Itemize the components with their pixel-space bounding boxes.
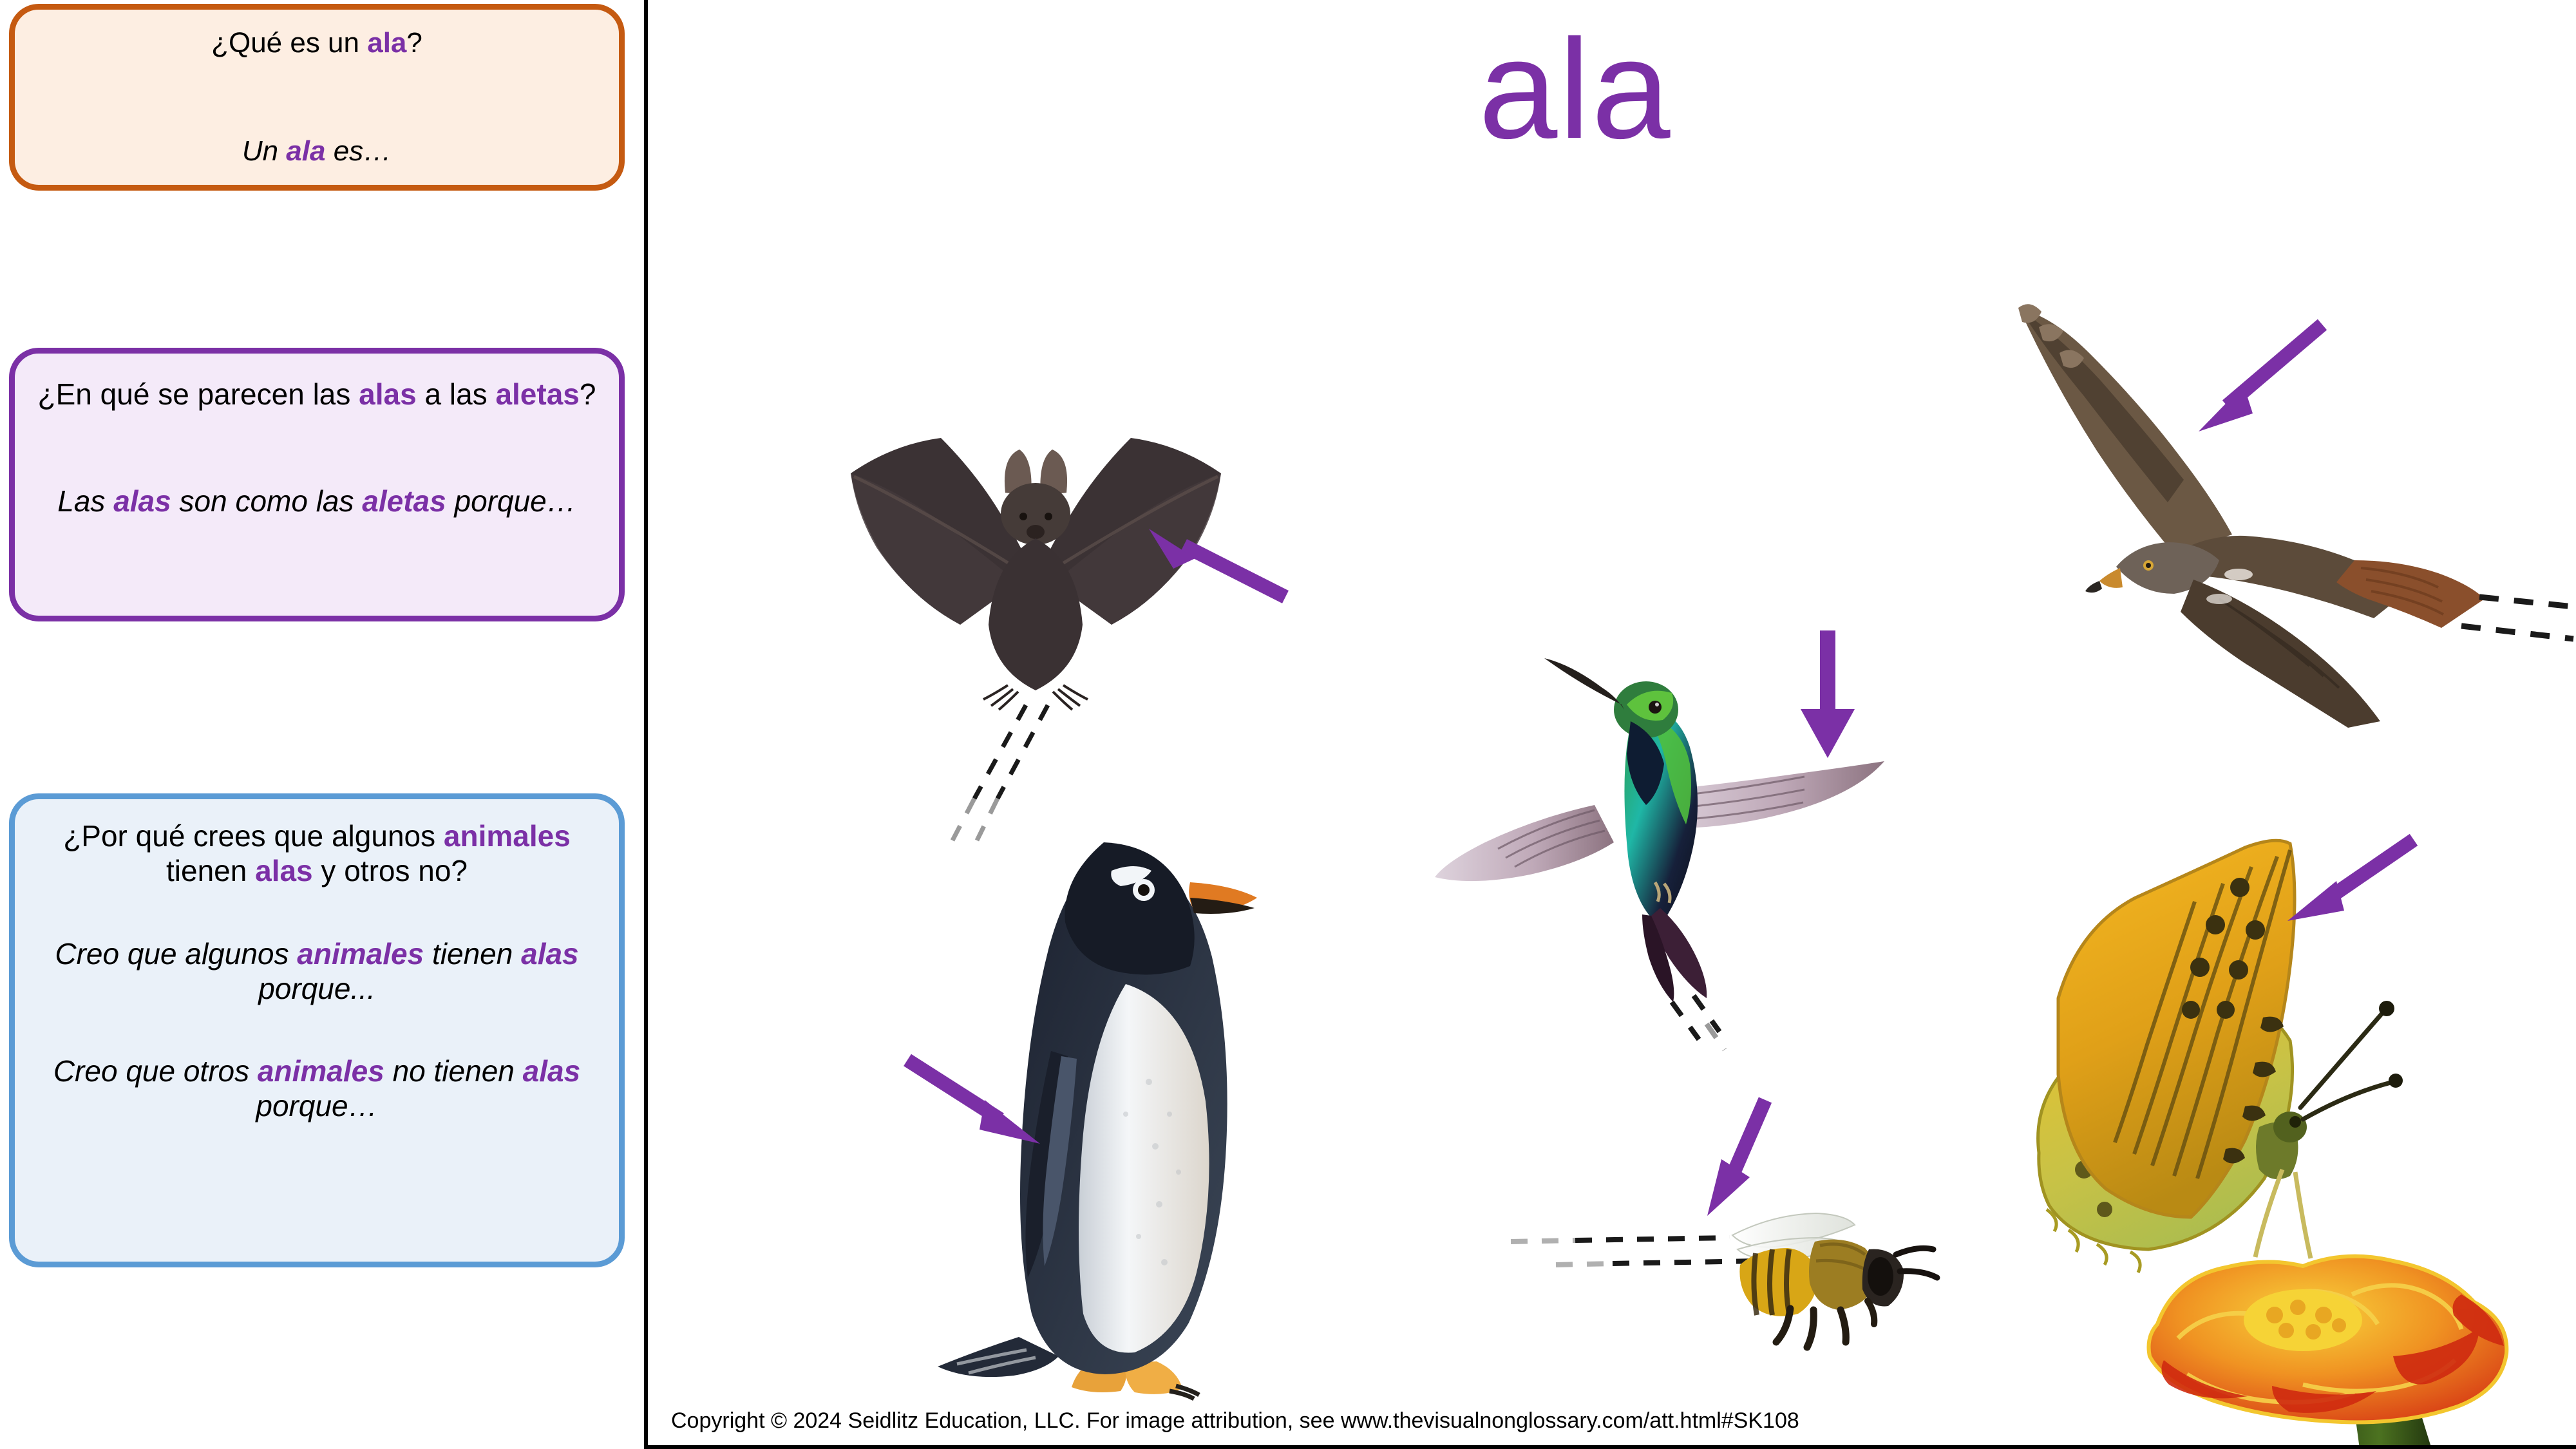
question-card-why[interactable]: ¿Por qué crees que algunos animales tien… xyxy=(9,793,625,1267)
keyword-highlight: ala xyxy=(367,27,406,59)
keyword-highlight: ala xyxy=(286,135,325,167)
illustration-panel: ala xyxy=(644,0,2576,1449)
keyword-highlight: alas xyxy=(521,937,579,971)
page-title: ala xyxy=(1479,18,1672,160)
honeybee-illustration xyxy=(1732,1213,1937,1347)
motion-lines-hummingbird xyxy=(1672,996,1725,1050)
question-text: ¿En qué se parecen las alas a las aletas… xyxy=(37,377,597,412)
figure-butterfly xyxy=(1942,805,2576,1449)
keyword-highlight: alas xyxy=(255,854,313,887)
arrow-icon-hawk xyxy=(2181,316,2335,444)
question-text: ¿Qué es un ala? xyxy=(41,26,593,60)
keyword-highlight: alas xyxy=(523,1054,581,1088)
question-card-compare[interactable]: ¿En qué se parecen las alas a las aletas… xyxy=(9,348,625,621)
arrow-icon-penguin xyxy=(902,1050,1057,1153)
motion-lines-bee xyxy=(1511,1238,1758,1265)
question-card-column: ¿Qué es un ala? Un ala es… ¿En qué se pa… xyxy=(0,0,644,1449)
arrow-icon-bat xyxy=(1137,518,1292,609)
keyword-highlight: alas xyxy=(113,484,171,518)
sentence-stem-text-2: Creo que otros animales no tienen alas p… xyxy=(33,1054,601,1124)
keyword-highlight: aletas xyxy=(362,484,446,518)
keyword-highlight: animales xyxy=(258,1054,384,1088)
keyword-highlight: animales xyxy=(444,819,571,853)
sentence-stem-text: Un ala es… xyxy=(41,135,593,168)
arrow-icon-hummingbird xyxy=(1788,628,1871,770)
marigold-flower-illustration xyxy=(2149,1256,2507,1449)
question-text: ¿Por qué crees que algunos animales tien… xyxy=(33,819,601,889)
question-card-what-is[interactable]: ¿Qué es un ala? Un ala es… xyxy=(9,4,625,191)
motion-lines-hawk xyxy=(2461,597,2573,639)
keyword-highlight: animales xyxy=(297,937,424,971)
arrow-icon-butterfly xyxy=(2277,831,2425,934)
arrow-icon-bee xyxy=(1694,1095,1797,1224)
keyword-highlight: aletas xyxy=(495,377,579,411)
keyword-highlight: alas xyxy=(359,377,417,411)
sentence-stem-text: Creo que algunos animales tienen alas po… xyxy=(33,936,601,1007)
copyright-attribution: Copyright © 2024 Seidlitz Education, LLC… xyxy=(671,1408,1799,1434)
figure-bat xyxy=(748,412,1327,811)
sentence-stem-text: Las alas son como las aletas porque… xyxy=(37,484,597,518)
